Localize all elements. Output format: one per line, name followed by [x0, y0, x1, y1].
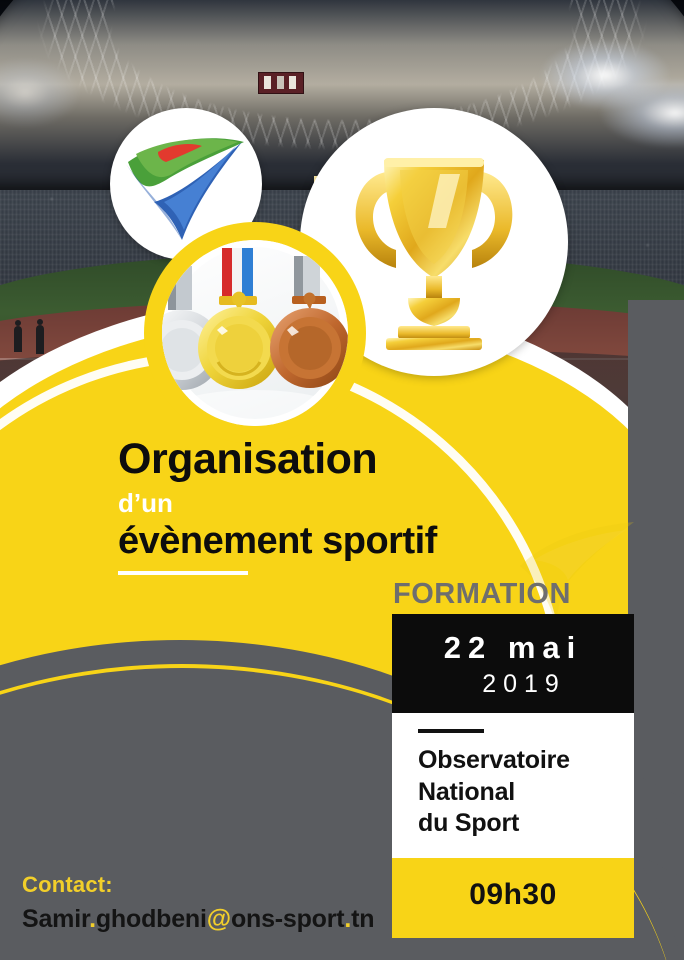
venue-divider [418, 729, 484, 733]
event-info-card: 22 mai 2019 Observatoire National du Spo… [392, 614, 634, 938]
title-underline [118, 571, 248, 575]
contact-block: Contact: Samir.ghodbeni@ons-sport.tn [22, 872, 374, 934]
event-date-day: 22 mai [392, 630, 634, 666]
three-medals-icon [162, 240, 348, 426]
event-date-year: 2019 [392, 670, 634, 699]
contact-label: Contact: [22, 872, 374, 898]
scoreboard [258, 72, 304, 94]
venue-line-3: du Sport [418, 808, 634, 840]
event-time-block: 09h30 [392, 858, 634, 938]
spectator-silhouette [14, 326, 22, 352]
poster-canvas: Organisation d’un évènement sportif FORM… [0, 0, 684, 960]
formation-kicker: FORMATION [393, 578, 571, 611]
venue-line-2: National [418, 777, 634, 809]
event-date-block: 22 mai 2019 [392, 614, 634, 713]
event-time: 09h30 [469, 878, 557, 911]
poster-title: Organisation d’un évènement sportif [118, 438, 548, 575]
venue-line-1: Observatoire [418, 745, 634, 777]
title-line-dun: d’un [118, 487, 548, 520]
title-line-evenement-sportif: évènement sportif [118, 522, 548, 562]
event-venue-block: Observatoire National du Sport [392, 713, 634, 858]
spectator-silhouette [36, 325, 44, 354]
contact-email[interactable]: Samir.ghodbeni@ons-sport.tn [22, 905, 374, 934]
medals-image-circle [162, 240, 348, 426]
title-line-organisation: Organisation [118, 438, 548, 481]
